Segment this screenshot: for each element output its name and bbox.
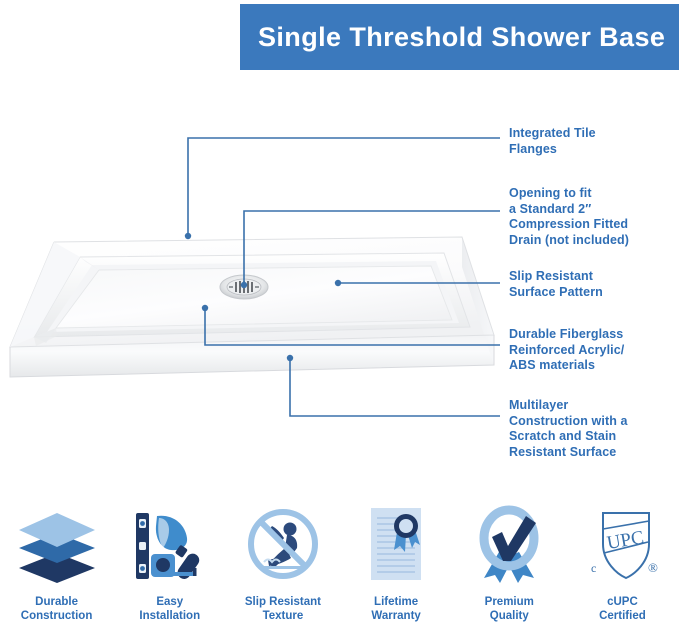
badge-label-easy-installation: Easy Installation xyxy=(139,595,200,623)
upc-shield-text: UPC xyxy=(606,527,646,554)
certificate-seal-icon xyxy=(353,500,439,588)
badge-label-premium-quality: Premium Quality xyxy=(485,595,534,623)
feature-badge-row: Durable Construction xyxy=(0,500,679,637)
infographic-page: Single Threshold Shower Base xyxy=(0,0,679,637)
badge-label-cupc-certified: cUPC Certified xyxy=(599,595,646,623)
leader-line-integrated-tile-flanges xyxy=(188,138,500,236)
trowel-level-tape-icon xyxy=(127,500,213,588)
badge-durable-construction: Durable Construction xyxy=(0,500,113,623)
callout-leader-lines: Integrated Tile Flanges Opening to fit a… xyxy=(0,0,679,500)
leader-dot-integrated-tile-flanges xyxy=(185,233,191,239)
check-rosette-icon xyxy=(466,500,552,588)
callout-label-multilayer-construction: Multilayer Construction with a Scratch a… xyxy=(509,398,628,460)
badge-lifetime-warranty: Lifetime Warranty xyxy=(340,500,453,623)
callout-label-drain-opening: Opening to fit a Standard 2″ Compression… xyxy=(509,186,629,248)
stacked-layers-icon xyxy=(14,500,100,588)
upc-registered-mark: ® xyxy=(648,560,658,575)
badge-slip-resistant-texture: Slip Resistant Texture xyxy=(226,500,339,623)
badge-premium-quality: Premium Quality xyxy=(453,500,566,623)
leader-line-durable-fiberglass xyxy=(205,308,500,345)
callout-label-durable-fiberglass: Durable Fiberglass Reinforced Acrylic/ A… xyxy=(509,327,624,374)
badge-cupc-certified: UPC c ® cUPC Certified xyxy=(566,500,679,623)
callout-label-integrated-tile-flanges: Integrated Tile Flanges xyxy=(509,126,596,157)
badge-label-lifetime-warranty: Lifetime Warranty xyxy=(371,595,420,623)
leader-dot-multilayer xyxy=(287,355,293,361)
upc-shield-prefix: c xyxy=(591,561,596,575)
leader-dot-slip-resistant xyxy=(335,280,341,286)
leader-dot-durable-fiberglass xyxy=(202,305,208,311)
badge-label-slip-resistant-texture: Slip Resistant Texture xyxy=(245,595,321,623)
leader-line-drain-opening xyxy=(244,211,500,285)
badge-label-durable-construction: Durable Construction xyxy=(21,595,93,623)
leader-dot-drain-opening xyxy=(241,282,247,288)
badge-easy-installation: Easy Installation xyxy=(113,500,226,623)
callout-label-slip-resistant-surface-pattern: Slip Resistant Surface Pattern xyxy=(509,269,603,300)
no-slip-icon xyxy=(240,500,326,588)
upc-shield-icon: UPC c ® xyxy=(579,500,665,588)
leader-line-multilayer xyxy=(290,358,500,416)
